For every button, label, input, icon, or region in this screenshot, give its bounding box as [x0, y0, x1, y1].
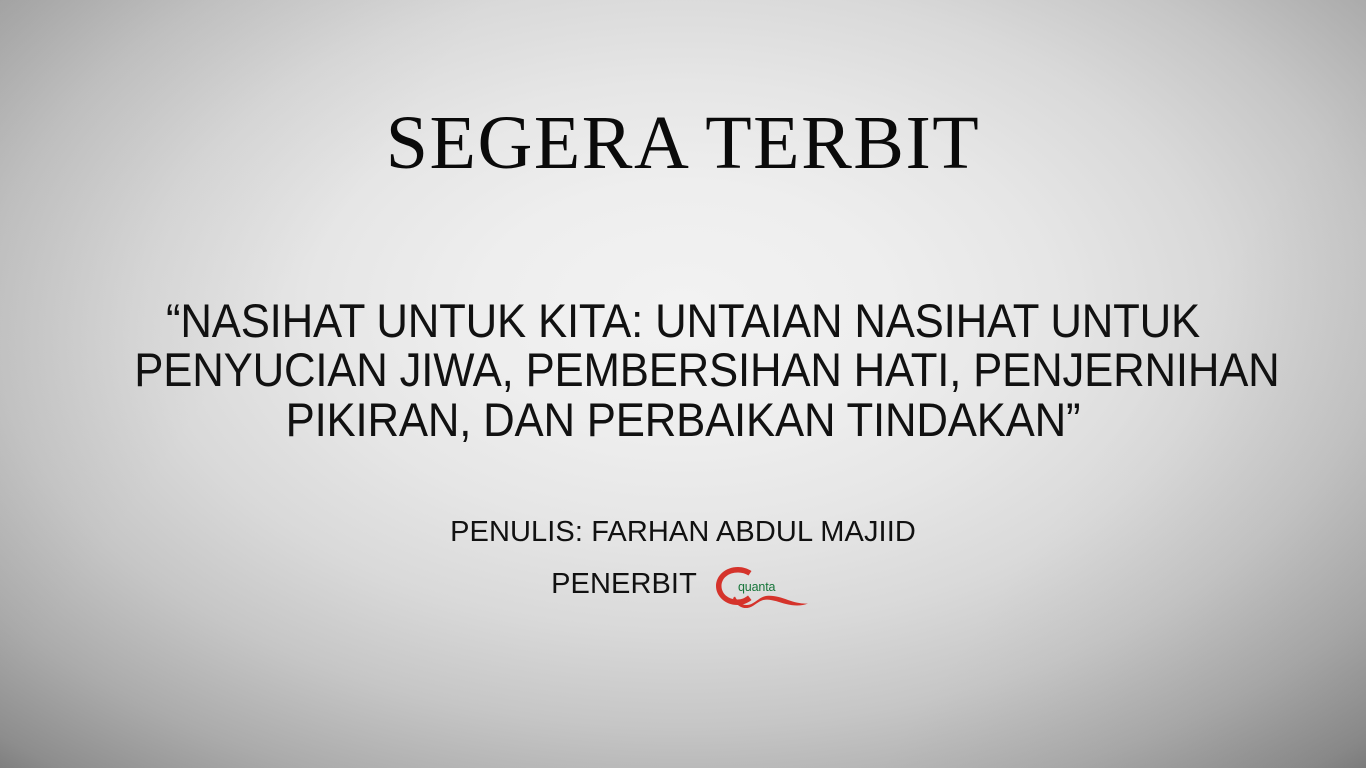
- quote-line-1: “NASIHAT UNTUK KITA: UNTAIAN NASIHAT UNT…: [134, 296, 1231, 345]
- publisher-label: PENERBIT: [551, 568, 697, 601]
- quanta-wordmark: quanta: [738, 580, 776, 594]
- quote-line-3: PIKIRAN, DAN PERBAIKAN TINDAKAN”: [134, 395, 1231, 444]
- publisher-row: PENERBIT quanta: [0, 560, 1366, 608]
- slide-content: SEGERA TERBIT “NASIHAT UNTUK KITA: UNTAI…: [0, 0, 1366, 768]
- quanta-logo: quanta: [707, 560, 815, 608]
- quote-line-2: PENYUCIAN JIWA, PEMBERSIHAN HATI, PENJER…: [134, 345, 1231, 394]
- quote-block: “NASIHAT UNTUK KITA: UNTAIAN NASIHAT UNT…: [134, 296, 1231, 444]
- presentation-slide: SEGERA TERBIT “NASIHAT UNTUK KITA: UNTAI…: [0, 0, 1366, 768]
- author-line: PENULIS: FARHAN ABDUL MAJIID: [0, 516, 1366, 549]
- page-title: SEGERA TERBIT: [0, 104, 1366, 184]
